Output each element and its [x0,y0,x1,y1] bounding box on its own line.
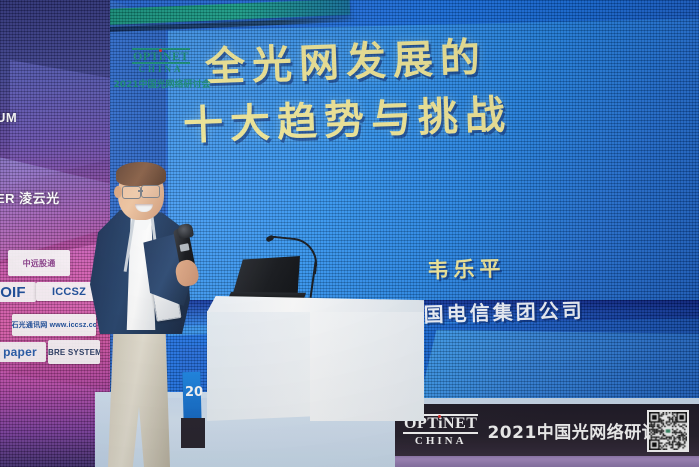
lectern-side-face [207,304,311,421]
logo-red-dot [438,415,441,418]
optinet-wordmark-lectern: OPTiNET [132,48,190,64]
qr-code-canvas [649,412,687,450]
glasses-lens-right [141,185,160,198]
qr-code [647,410,689,452]
lectern-front-face [310,307,424,421]
conference-photo: UMER 淩云光 中远股通OIFICCSZ讯石光通讯网 www.iccsz.co… [0,0,699,467]
sponsor-logo: paper [0,342,46,362]
speaker-person [78,160,218,467]
speaker-name: 韦乐平 [399,249,640,286]
sponsor-logo-label: 中远股通 [23,258,56,269]
screen-speaker-caption: 韦乐平 中国电信集团公司 [399,249,641,329]
sponsor-logo: OIF [0,282,36,302]
cut-off-logo: UM [0,110,17,125]
glasses-lens-left [122,186,141,199]
optinet-logo-lectern: OPTiNET CHINA [118,48,204,74]
sponsor-logo: 中远股通 [8,250,70,276]
handheld-microphone-grille [177,223,194,240]
lectern-top-surface [207,296,424,312]
sponsor-logo-label: paper [3,345,37,359]
sponsor-logo-label: OIF [0,284,26,301]
glasses-bridge [138,190,143,192]
speaker-hair [116,162,166,186]
cut-off-logo: ER 淩云光 [0,188,60,207]
logo-red-dot [159,49,162,52]
bottom-banner: OPTiNET CHINA 2021中国光网络研讨会 [395,404,699,456]
speaker-ear [114,186,122,198]
lectern-subtitle: 2021中国光网络研讨会 [112,77,212,90]
china-wordmark: CHINA [403,436,478,447]
china-wordmark-lectern: CHINA [118,65,204,74]
screen-title: 全光网发展的 十大趋势与挑战 [150,35,583,148]
lectern [207,296,424,421]
